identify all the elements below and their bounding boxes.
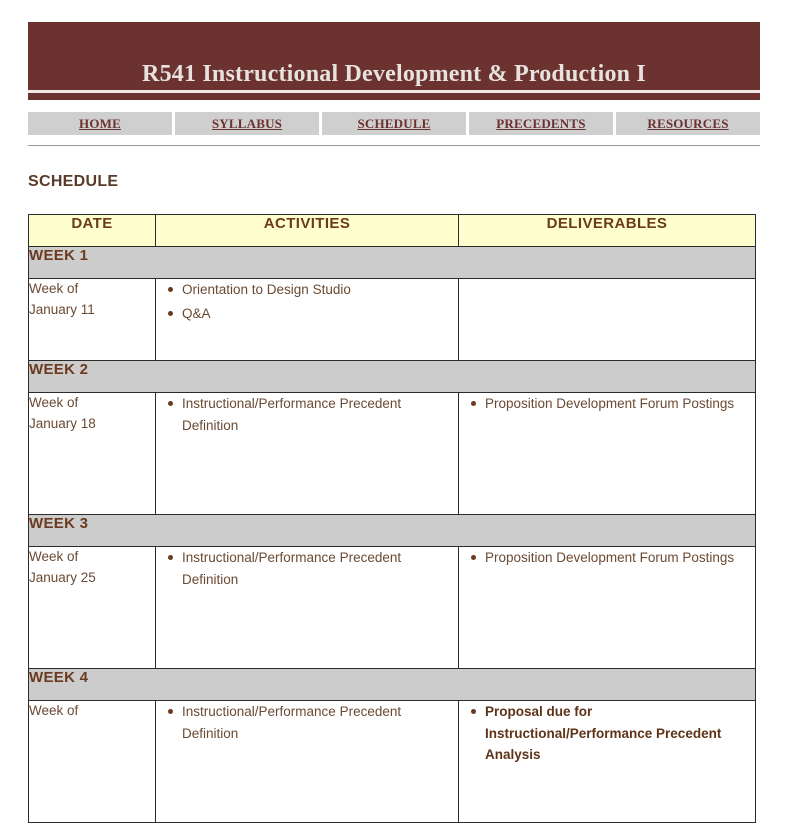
page-root: R541 Instructional Development & Product… [0,0,788,830]
week-activities-3: Instructional/Performance Precedent Defi… [156,547,459,669]
nav-item-resources[interactable]: RESOURCES [616,112,760,135]
date-line-2: January 25 [29,568,155,589]
week-deliverables-3: Proposition Development Forum Postings [459,547,756,669]
nav-label-schedule: SCHEDULE [357,117,430,130]
week-banner-row: WEEK 2 [29,361,756,393]
week-banner-label-3: WEEK 3 [29,515,756,547]
week-banner-label-2: WEEK 2 [29,361,756,393]
activities-list-3: Instructional/Performance Precedent Defi… [156,547,458,590]
page-title: SCHEDULE [28,174,118,190]
activities-list-1: Orientation to Design Studio Q&A [156,279,458,324]
table-row: Week of Instructional/Performance Preced… [29,701,756,823]
site-banner: R541 Instructional Development & Product… [28,22,760,100]
column-header-date: DATE [29,215,156,247]
week-date-1: Week of January 11 [29,279,156,361]
nav-item-syllabus[interactable]: SYLLABUS [175,112,319,135]
week-deliverables-4: Proposal due for Instructional/Performan… [459,701,756,823]
week-date-2: Week of January 18 [29,393,156,515]
activities-list-4: Instructional/Performance Precedent Defi… [156,701,458,744]
date-line-2: January 18 [29,414,155,435]
deliverables-list-3: Proposition Development Forum Postings [459,547,755,569]
list-item: Proposition Development Forum Postings [485,393,755,415]
date-line-1: Week of [29,547,155,568]
nav-label-syllabus: SYLLABUS [212,117,282,130]
week-deliverables-1 [459,279,756,361]
column-header-deliverables: DELIVERABLES [459,215,756,247]
nav-item-precedents[interactable]: PRECEDENTS [469,112,613,135]
course-title: R541 Instructional Development & Product… [28,62,760,86]
week-banner-label-4: WEEK 4 [29,669,756,701]
list-item: Proposition Development Forum Postings [485,547,755,569]
list-item: Orientation to Design Studio [182,279,458,301]
week-banner-label-1: WEEK 1 [29,247,756,279]
nav-item-home[interactable]: HOME [28,112,172,135]
deliverables-list-4: Proposal due for Instructional/Performan… [459,701,755,766]
nav-label-resources: RESOURCES [647,117,728,130]
nav-bottom-rule [28,145,760,146]
table-row: Week of January 18 Instructional/Perform… [29,393,756,515]
date-line-1: Week of [29,701,155,722]
main-navigation: HOME SYLLABUS SCHEDULE PRECEDENTS RESOUR… [28,112,760,135]
nav-label-home: HOME [79,117,121,130]
list-item: Instructional/Performance Precedent Defi… [182,393,458,436]
date-line-1: Week of [29,279,155,300]
week-date-4: Week of [29,701,156,823]
list-item: Q&A [182,303,458,325]
week-banner-row: WEEK 4 [29,669,756,701]
date-line-1: Week of [29,393,155,414]
nav-label-precedents: PRECEDENTS [496,117,585,130]
table-header-row: DATE ACTIVITIES DELIVERABLES [29,215,756,247]
week-activities-4: Instructional/Performance Precedent Defi… [156,701,459,823]
column-header-activities: ACTIVITIES [156,215,459,247]
table-row: Week of January 25 Instructional/Perform… [29,547,756,669]
banner-divider [28,90,760,93]
list-item: Instructional/Performance Precedent Defi… [182,547,458,590]
week-activities-1: Orientation to Design Studio Q&A [156,279,459,361]
date-line-2: January 11 [29,300,155,321]
deliverables-list-2: Proposition Development Forum Postings [459,393,755,415]
week-date-3: Week of January 25 [29,547,156,669]
week-activities-2: Instructional/Performance Precedent Defi… [156,393,459,515]
nav-item-schedule[interactable]: SCHEDULE [322,112,466,135]
activities-list-2: Instructional/Performance Precedent Defi… [156,393,458,436]
schedule-table: DATE ACTIVITIES DELIVERABLES WEEK 1 Week… [28,214,756,823]
list-item: Instructional/Performance Precedent Defi… [182,701,458,744]
week-banner-row: WEEK 3 [29,515,756,547]
week-banner-row: WEEK 1 [29,247,756,279]
table-row: Week of January 11 Orientation to Design… [29,279,756,361]
week-deliverables-2: Proposition Development Forum Postings [459,393,756,515]
list-item: Proposal due for Instructional/Performan… [485,701,755,766]
